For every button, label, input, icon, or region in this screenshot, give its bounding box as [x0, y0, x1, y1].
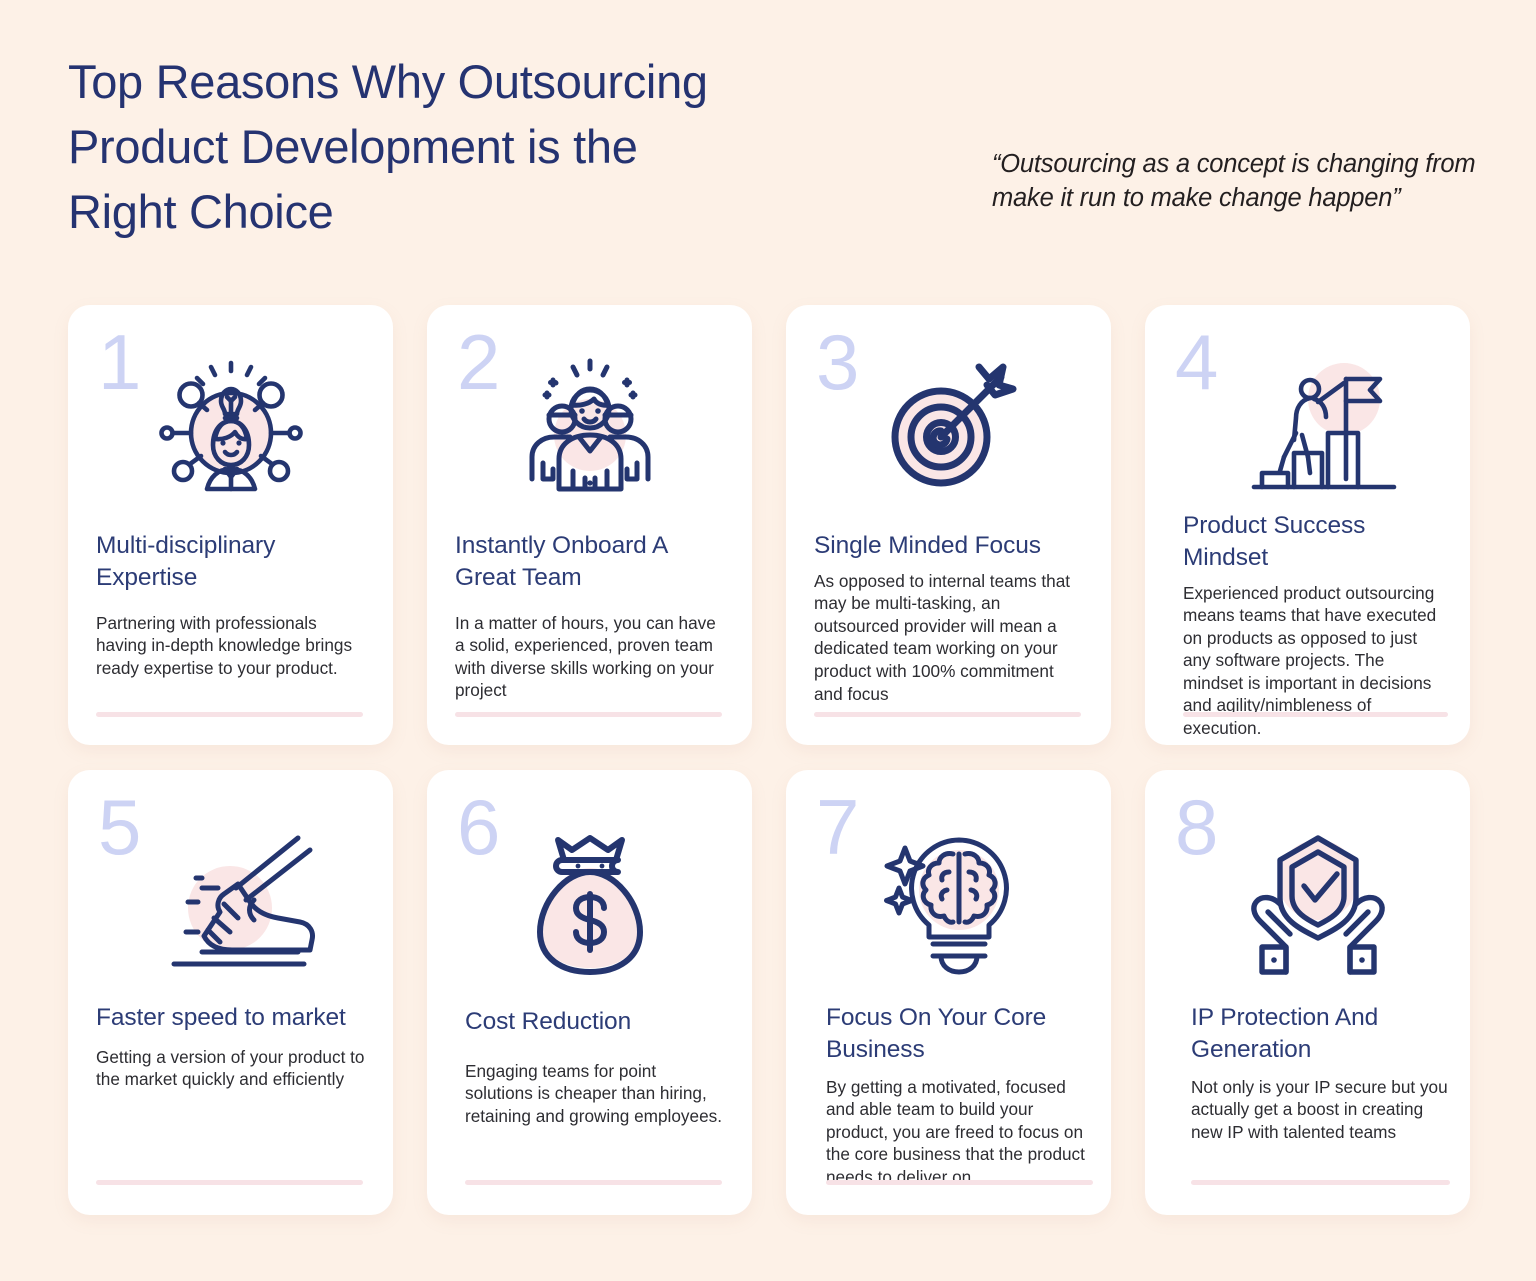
card-description: Engaging teams for point solutions is ch… [465, 1060, 726, 1128]
card-title: Focus On Your Core Business [826, 1002, 1095, 1066]
reason-card-5: 5 [68, 770, 393, 1215]
person-lightbulb-network-icon [68, 353, 393, 503]
card-body: Instantly Onboard A Great Team In a matt… [427, 530, 752, 702]
card-divider [96, 1180, 363, 1185]
card-description: Getting a version of your product to the… [96, 1046, 367, 1091]
card-body: Multi-disciplinary Expertise Partnering … [68, 530, 393, 679]
card-body: Faster speed to market Getting a version… [68, 1002, 393, 1091]
card-divider [814, 712, 1081, 717]
card-title: Faster speed to market [96, 1002, 367, 1034]
header-quote: “Outsourcing as a concept is changing fr… [992, 148, 1482, 216]
team-group-icon [427, 353, 752, 503]
reason-card-7: 7 [786, 770, 1111, 1215]
card-description: By getting a motivated, focused and able… [826, 1076, 1095, 1189]
card-body: Focus On Your Core Business By getting a… [786, 1002, 1111, 1188]
card-divider [465, 1180, 722, 1185]
reason-card-3: 3 Single Minded Focus As opposed to inte… [786, 305, 1111, 745]
page-title: Top Reasons Why Outsourcing Product Deve… [68, 50, 888, 245]
reason-card-1: 1 [68, 305, 393, 745]
shield-hands-icon [1145, 832, 1470, 992]
card-description: Partnering with professionals having in-… [96, 612, 367, 680]
card-description: As opposed to internal teams that may be… [814, 570, 1085, 705]
card-title: Single Minded Focus [814, 530, 1085, 562]
money-bag-icon [427, 832, 752, 992]
reasons-card-grid: 1 [68, 305, 1472, 1215]
card-divider [96, 712, 363, 717]
card-description: Not only is your IP secure but you actua… [1191, 1076, 1454, 1144]
card-title: Multi-disciplinary Expertise [96, 530, 367, 594]
reason-card-6: 6 Cost Reduction Engaging teams for poin… [427, 770, 752, 1215]
card-divider [1191, 1180, 1450, 1185]
card-body: Product Success Mindset Experienced prod… [1145, 510, 1470, 739]
reason-card-8: 8 IP Protection A [1145, 770, 1470, 1215]
reason-card-4: 4 [1145, 305, 1470, 745]
card-body: IP Protection And Generation Not only is… [1145, 1002, 1470, 1143]
reason-card-2: 2 [427, 305, 752, 745]
brain-lightbulb-icon [786, 832, 1111, 992]
card-title: IP Protection And Generation [1191, 1002, 1454, 1066]
card-title: Cost Reduction [465, 1006, 726, 1038]
running-shoe-icon [68, 832, 393, 992]
page-header: Top Reasons Why Outsourcing Product Deve… [0, 0, 1536, 300]
card-divider [826, 1180, 1093, 1185]
card-title: Product Success Mindset [1183, 510, 1448, 574]
card-title: Instantly Onboard A Great Team [455, 530, 726, 594]
climber-flag-stairs-icon [1145, 353, 1470, 503]
card-divider [455, 712, 722, 717]
card-body: Single Minded Focus As opposed to intern… [786, 530, 1111, 705]
target-arrow-icon [786, 353, 1111, 503]
card-body: Cost Reduction Engaging teams for point … [427, 1006, 752, 1127]
card-divider [1183, 712, 1448, 717]
card-description: In a matter of hours, you can have a sol… [455, 612, 726, 702]
